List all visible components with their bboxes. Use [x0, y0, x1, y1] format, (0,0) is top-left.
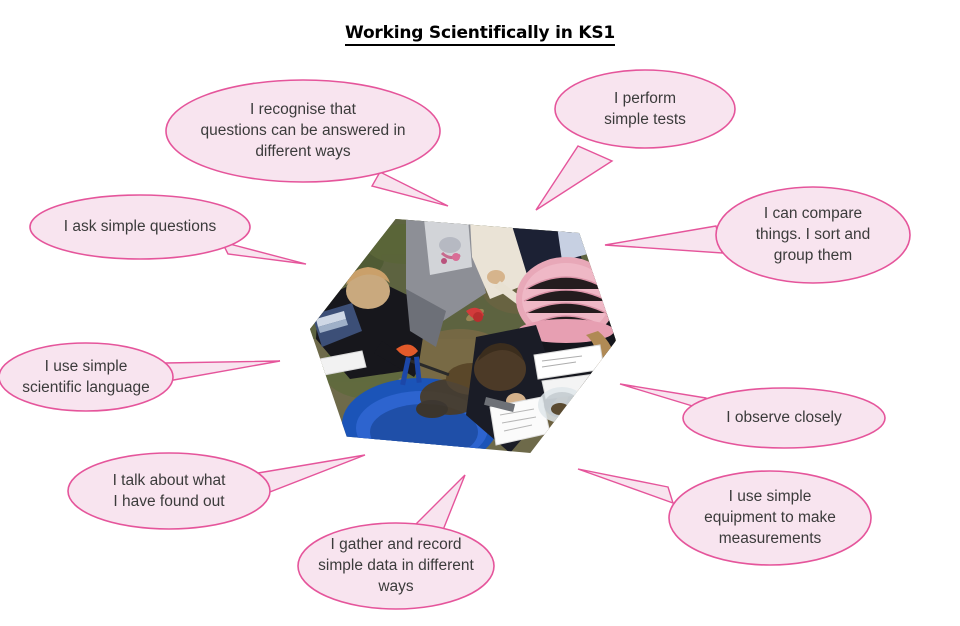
bubble-perform-simple-tests[interactable] [536, 70, 735, 210]
bubble-use-simple-equipment[interactable] [578, 469, 871, 565]
bubble-ask-simple-questions[interactable] [30, 195, 306, 264]
bubble-recognise-questions[interactable] [166, 80, 448, 206]
working-scientifically-poster: Working Scientifically in KS1 .bub { fil… [0, 0, 960, 626]
bubble-observe-closely[interactable] [620, 384, 885, 448]
bubble-scientific-language[interactable] [0, 343, 280, 411]
bubble-talk-about-findings[interactable] [68, 453, 365, 529]
bubble-gather-record-data[interactable] [298, 475, 494, 609]
bubble-compare-sort-group[interactable] [605, 187, 910, 283]
